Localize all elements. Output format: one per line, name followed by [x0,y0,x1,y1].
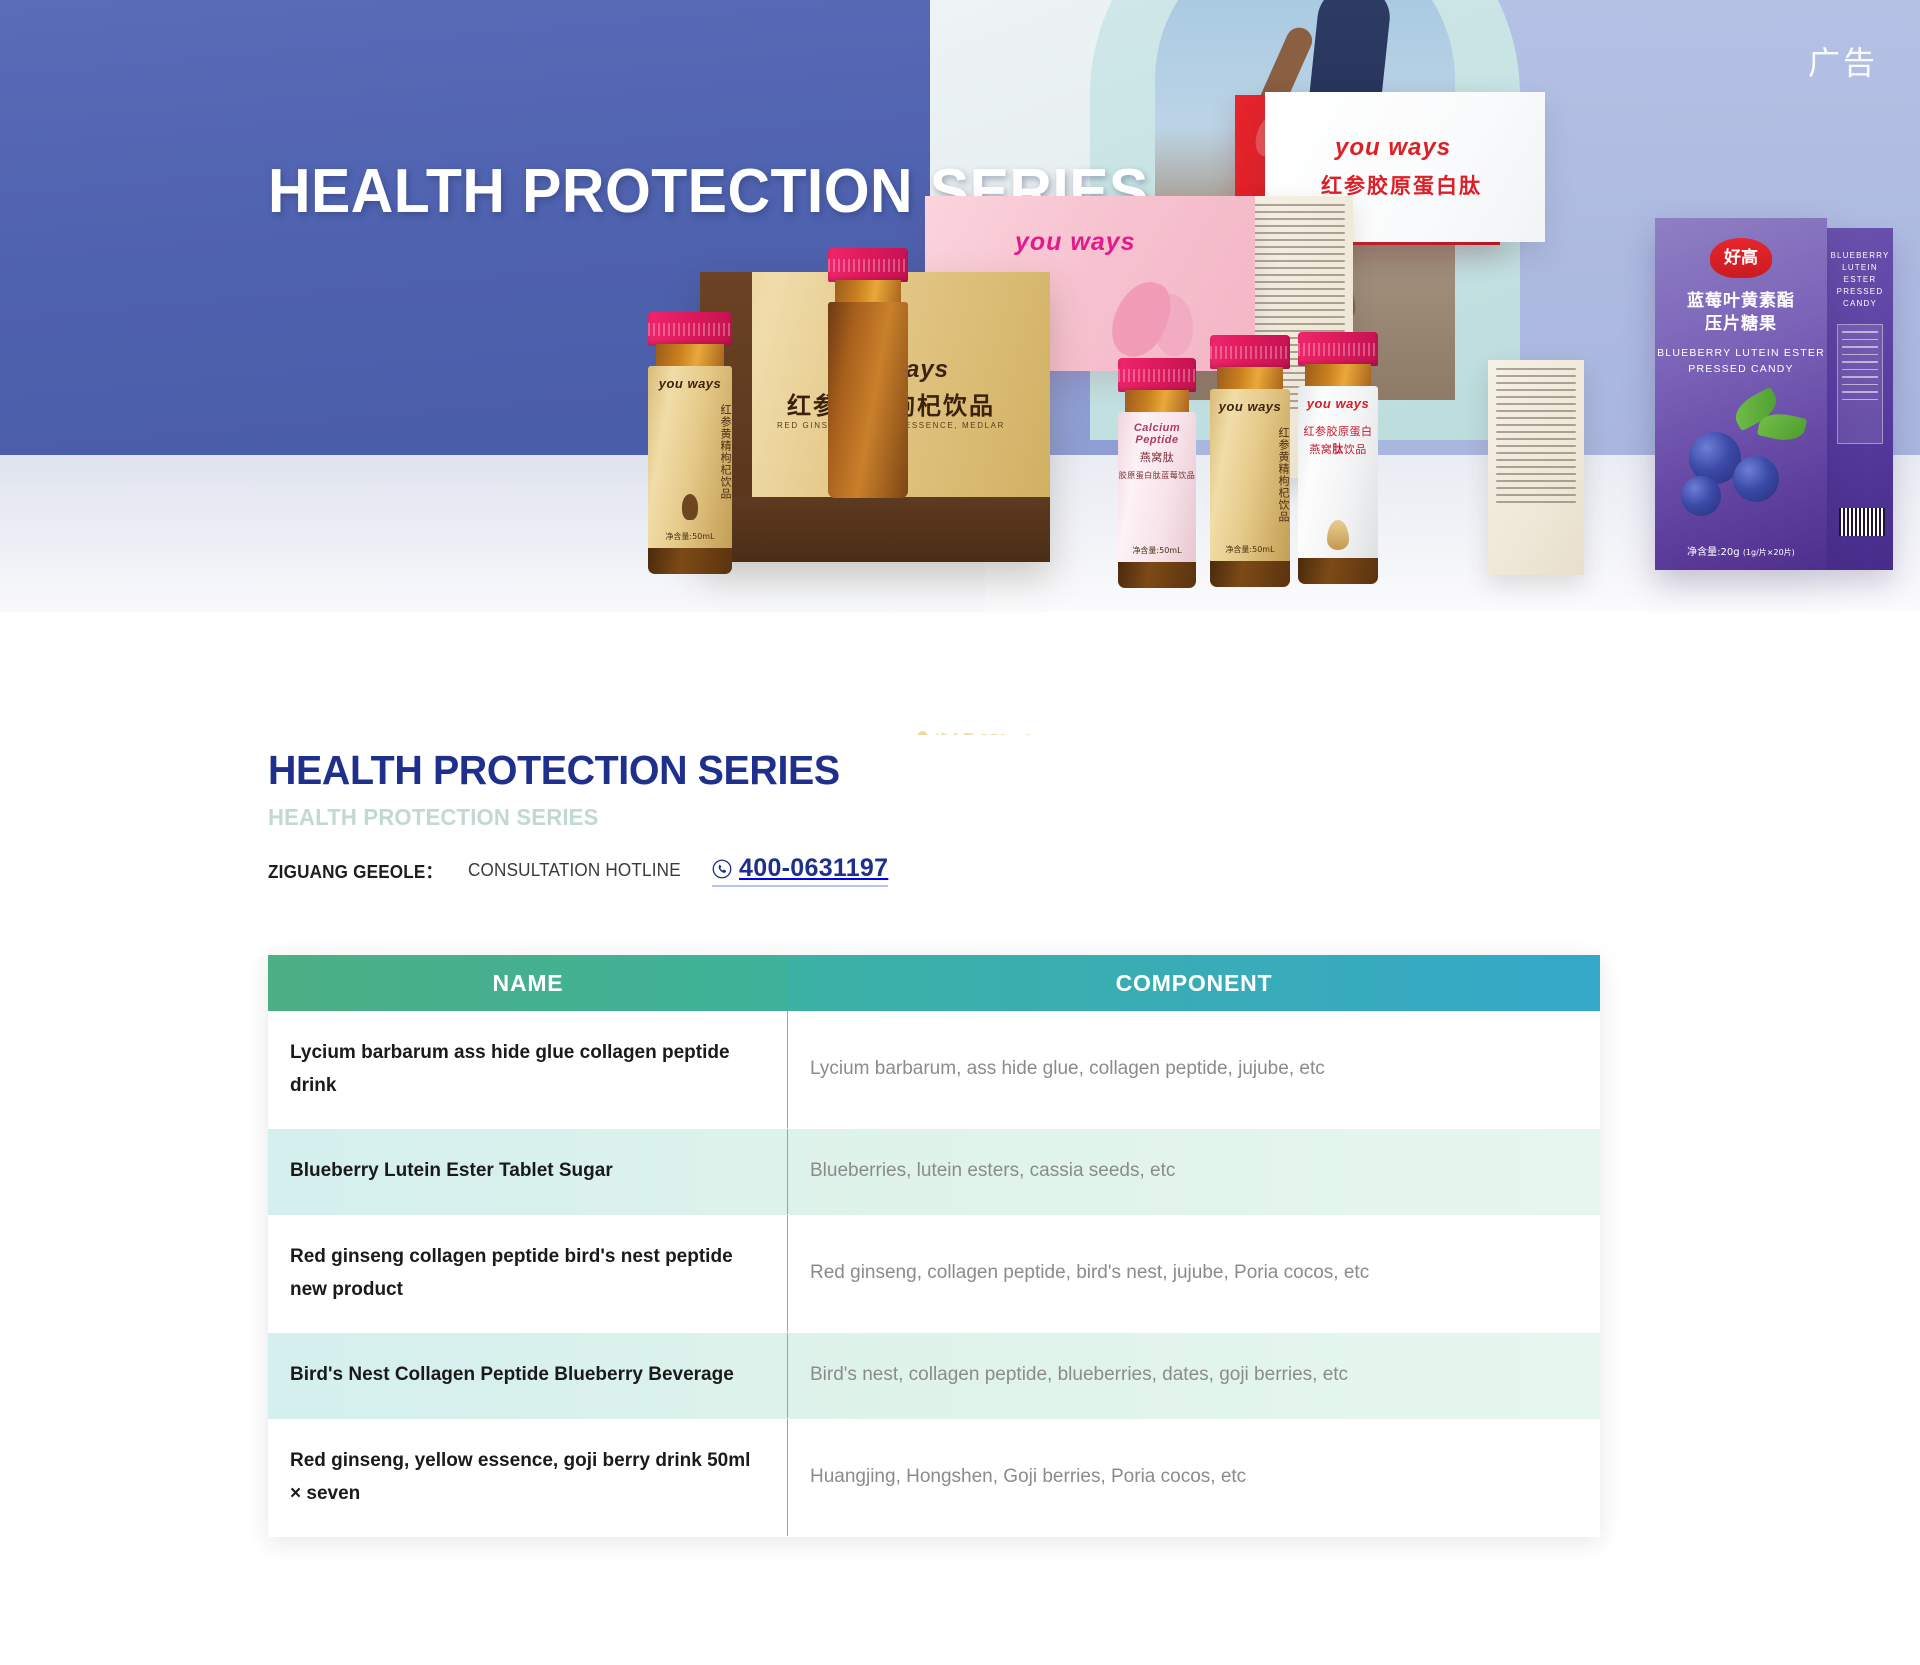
product-bottle-gold-right: you ways 红参黄精枸杞饮品 净含量:50mL [1210,335,1290,587]
bottle-cn-name: 燕窝肽 [1118,450,1196,467]
product-bottle-gold-mid [828,248,908,498]
bottle-cn-name: 红参黄精枸杞饮品 [648,404,732,500]
youways-logo-bottle: you ways [1298,396,1378,411]
bottle-cap [1118,358,1196,392]
barcode-graphic [1839,508,1885,536]
spec-text-lines [1496,368,1576,508]
cell-component: Lycium barbarum, ass hide glue, collagen… [788,1011,1600,1128]
phone-number: 400-0631197 [739,854,888,883]
calcium-peptide-logo: Calcium Peptide [1118,422,1196,446]
bottle-base [648,548,732,574]
bottle-cn-sub: 胶原蛋白肽蓝莓饮品 [1118,470,1196,482]
cell-name: Bird's Nest Collagen Peptide Blueberry B… [268,1333,788,1418]
youways-logo-pink-box: you ways [1015,228,1136,257]
bottle-base [1298,558,1378,584]
bottle-net-weight: 净含量:50mL [648,531,732,542]
hotline-label: CONSULTATION HOTLINE [468,860,681,881]
bottle-cap [648,312,732,346]
product-purple-carton-side: BLUEBERRY LUTEIN ESTER PRESSED CANDY [1827,228,1893,570]
cell-component: Bird's nest, collagen peptide, blueberri… [788,1333,1600,1418]
hero-banner: 广告 HEALTH PROTECTION SERIES you ways 红参胶… [0,0,1920,735]
gold-carton-bottom-band: 净含量:350 mL (50mL/瓶 × 7瓶) [700,497,1050,562]
brand-label: ZIGUANG GEEOLE： [268,858,443,884]
table-row: Bird's Nest Collagen Peptide Blueberry B… [268,1333,1600,1419]
blueberry-graphic [1681,476,1721,516]
table-row: Red ginseng, yellow essence, goji berry … [268,1419,1600,1537]
bottle-cn-sub: 燕窝肽饮品 [1298,442,1378,459]
bottle-cn-name: 红参黄精枸杞饮品 [1210,427,1290,523]
net-weight-value: 净含量:350 mL [936,733,1034,735]
product-component-table: NAME COMPONENT Lycium barbarum ass hide … [268,955,1600,1537]
info-section: HEALTH PROTECTION SERIES HEALTH PROTECTI… [268,748,1668,887]
bottle-cap [1298,332,1378,366]
bottle-cap [828,248,908,282]
hotline-phone-link[interactable]: 400-0631197 [712,854,888,887]
youways-logo-bottle: you ways [648,376,732,391]
cell-component: Blueberries, lutein esters, cassia seeds… [788,1129,1600,1214]
bottle-body [828,302,908,498]
product-purple-carton: 好高 蓝莓叶黄素酯压片糖果 BLUEBERRY LUTEIN ESTER PRE… [1655,218,1827,570]
phone-icon [712,859,732,879]
cell-name: Blueberry Lutein Ester Tablet Sugar [268,1129,788,1214]
haogao-brand-logo: 好高 [1710,238,1772,278]
table-row: Blueberry Lutein Ester Tablet Sugar Blue… [268,1129,1600,1215]
hero-bg-floor [0,612,1920,735]
column-header-name: NAME [268,955,788,1011]
cell-component: Huangjing, Hongshen, Goji berries, Poria… [788,1419,1600,1536]
cell-name: Lycium barbarum ass hide glue collagen p… [268,1011,788,1128]
gold-box-net-weight: 净含量:350 mL (50mL/瓶 × 7瓶) [936,729,1034,735]
table-header-row: NAME COMPONENT [268,955,1600,1011]
ginseng-root-graphic [682,494,698,520]
column-header-component: COMPONENT [788,955,1600,1011]
cell-name: Red ginseng collagen peptide bird's nest… [268,1215,788,1332]
cell-component: Red ginseng, collagen peptide, bird's ne… [788,1215,1600,1332]
bottle-base [1118,562,1196,588]
contact-row: ZIGUANG GEEOLE： CONSULTATION HOTLINE 400… [268,854,1668,887]
youways-logo-white-box: you ways [1335,134,1451,162]
purple-box-en-name: BLUEBERRY LUTEIN ESTER PRESSED CANDY [1655,346,1827,378]
section-title: HEALTH PROTECTION SERIES [268,748,1612,793]
table-row: Red ginseng collagen peptide bird's nest… [268,1215,1600,1333]
bottle-base [1210,561,1290,587]
product-bottle-gold-left: you ways 红参黄精枸杞饮品 净含量:50mL [648,312,732,574]
cell-name: Red ginseng, yellow essence, goji berry … [268,1419,788,1536]
product-spec-carton-right [1488,360,1584,575]
table-row: Lycium barbarum ass hide glue collagen p… [268,1011,1600,1129]
bottle-net-weight: 净含量:50mL [1210,544,1290,555]
section-subtitle: HEALTH PROTECTION SERIES [268,804,1612,831]
purple-box-cn-name: 蓝莓叶黄素酯压片糖果 [1655,290,1827,336]
nutrition-table-graphic [1837,324,1883,444]
product-bottle-white: you ways 红参胶原蛋白肽 燕窝肽饮品 [1298,332,1378,584]
product-bottle-pink: Calcium Peptide 燕窝肽 胶原蛋白肽蓝莓饮品 净含量:50mL [1118,358,1196,588]
purple-box-net-weight: 净含量:20g (1g/片×20片) [1655,543,1827,558]
bottle-cap [1210,335,1290,369]
bottle-net-weight: 净含量:50mL [1118,545,1196,556]
advertisement-label: 广告 [1808,38,1878,84]
purple-side-en-name: BLUEBERRY LUTEIN ESTER PRESSED CANDY [1827,250,1893,310]
blueberry-graphic [1733,456,1779,502]
youways-logo-bottle: you ways [1210,399,1290,414]
